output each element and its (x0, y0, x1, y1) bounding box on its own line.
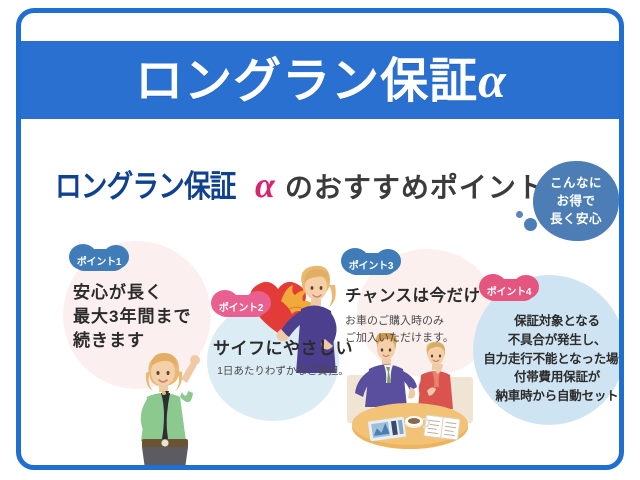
point-1-title-line-2: 最大3年間まで (73, 305, 223, 329)
banner-title: ロングラン保証α (135, 55, 507, 106)
point-3-title: チャンスは今だけ (345, 285, 493, 308)
point-2-title: サイフにやさしい (213, 337, 353, 361)
couple-at-table-illustration (339, 333, 481, 453)
point-4-title-line-1: 保証対象となる (483, 312, 624, 331)
banner-title-main: ロングラン保証 (135, 55, 478, 108)
point-2-title-line-1: サイフにやさしい (213, 337, 353, 361)
point-3-title-line-1: チャンスは今だけ (345, 285, 493, 308)
point-3-badge: ポイント3 (345, 253, 397, 275)
speech-bubble-line-3: 長く安心 (550, 211, 602, 229)
speech-bubble-tail (524, 218, 537, 231)
title-banner: ロングラン保証α (19, 41, 623, 119)
point-3-subtitle: お車のご購入時のみ ご加入いただけます。 (345, 313, 493, 347)
point-3-block: ポイント3 チャンスは今だけ お車のご購入時のみ ご加入いただけます。 (345, 253, 493, 348)
point-4-title-line-5: 納車時から自動セット (483, 387, 624, 406)
point-1-badge: ポイント1 (73, 249, 125, 271)
point-4-title: 保証対象となる 不具合が発生し、 自力走行不能となった場合 付帯費用保証が 納車… (483, 312, 624, 406)
speech-bubble-line-2: お得で (556, 193, 595, 211)
headline-brand-alpha: α (255, 164, 275, 206)
point-2-badge: ポイント2 (215, 295, 267, 317)
headline-suffix: のおすすめポイント (285, 166, 546, 206)
speech-bubble: こんなに お得で 長く安心 (533, 161, 619, 241)
point-4-title-line-2: 不具合が発生し、 (483, 331, 624, 350)
point-1-title: 安心が長く 最大3年間まで 続きます (73, 281, 223, 353)
poster-frame: ロングラン保証α ロングラン保証 α のおすすめポイント こんなに お得で 長く… (16, 8, 624, 470)
headline: ロングラン保証 α のおすすめポイント (55, 161, 546, 206)
point-3-subtitle-line-1: お車のご購入時のみ (345, 313, 493, 330)
point-4-badge: ポイント4 (483, 279, 535, 301)
advertisement-screenshot: ロングラン保証α ロングラン保証 α のおすすめポイント こんなに お得で 長く… (0, 0, 640, 480)
point-1-title-line-1: 安心が長く (73, 281, 223, 305)
headline-brand: ロングラン保証 (55, 161, 236, 206)
woman-green-cardigan-illustration (125, 343, 211, 469)
point-2-badge-wrap: ポイント2 (215, 295, 353, 317)
point-4-title-line-3: 自力走行不能となった場合 (483, 350, 624, 369)
point-4-badge-wrap: ポイント4 (483, 279, 624, 301)
speech-bubble-line-1: こんなに (550, 175, 602, 193)
banner-title-alpha: α (478, 52, 507, 108)
point-1-block: ポイント1 安心が長く 最大3年間まで 続きます (73, 249, 223, 353)
point-2-block: ポイント2 サイフにやさしい 1日あたりわずかなご負担。 (213, 295, 353, 380)
point-4-block: ポイント4 保証対象となる 不具合が発生し、 自力走行不能となった場合 付帯費用… (483, 279, 624, 406)
point-4-title-line-4: 付帯費用保証が (483, 368, 624, 387)
speech-bubble-tail-small (516, 211, 523, 218)
point-3-subtitle-line-2: ご加入いただけます。 (345, 330, 493, 347)
point-2-subtitle: 1日あたりわずかなご負担。 (213, 364, 353, 380)
point-1-title-line-3: 続きます (73, 329, 223, 353)
point-2-subtitle-line-1: 1日あたりわずかなご負担。 (213, 364, 353, 380)
